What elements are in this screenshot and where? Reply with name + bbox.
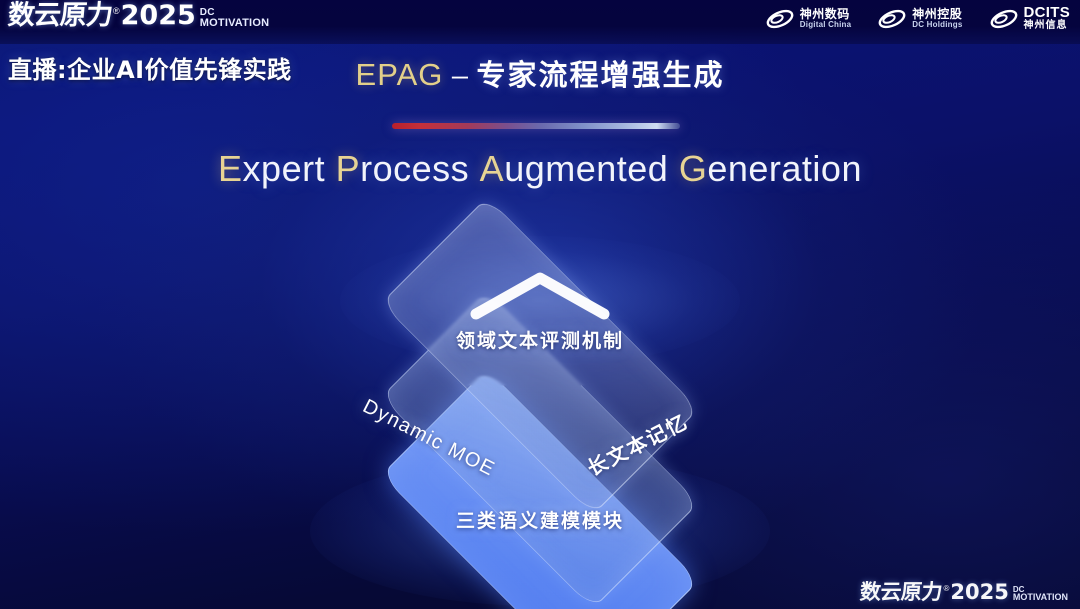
subtitle-cap-e: E	[218, 148, 243, 189]
gradient-divider	[392, 123, 680, 129]
swoosh-icon	[765, 6, 795, 32]
title-chinese: 专家流程增强生成	[476, 58, 724, 92]
partner-name-cn: 神州信息	[1024, 20, 1071, 32]
layer-label-top: 领域文本评测机制	[456, 326, 624, 353]
watermark-dc: DC MOTIVATION	[1013, 586, 1068, 602]
watermark-dc-line2: MOTIVATION	[1013, 593, 1068, 602]
watermark-year: 2025	[950, 582, 1008, 603]
chevron-up-icon	[466, 266, 614, 322]
partner-logo-digital-china: 神州数码 Digital China	[765, 6, 852, 32]
partner-text: 神州控股 DC Holdings	[912, 8, 962, 29]
partner-text: 神州数码 Digital China	[800, 8, 852, 29]
event-logo-cn: 数云原力	[7, 2, 113, 29]
layer-label-bottom: 三类语义建模模块	[456, 506, 624, 533]
partner-logo-dcits: DCITS 神州信息	[989, 5, 1071, 32]
watermark-cn: 数云原力	[860, 582, 944, 603]
watermark-registered-mark: ®	[943, 584, 949, 593]
title-dash: –	[448, 60, 472, 92]
title-acronym: EPAG	[356, 57, 444, 92]
partner-name-en: DCITS	[1024, 5, 1071, 20]
subtitle-rest-process: rocess	[360, 148, 469, 189]
subtitle-cap-p: P	[336, 148, 361, 189]
partner-logo-dc-holdings: 神州控股 DC Holdings	[877, 6, 962, 32]
event-logo: 数云原力 ® 2025 DC MOTIVATION	[8, 2, 269, 29]
subtitle-rest-expert: xpert	[243, 148, 326, 189]
partner-name-en: DC Holdings	[912, 21, 962, 29]
event-logo-dc: DC MOTIVATION	[200, 8, 269, 28]
registered-mark: ®	[113, 7, 120, 16]
partner-name-en: Digital China	[800, 21, 852, 29]
partner-name-cn: 神州控股	[912, 8, 962, 21]
event-logo-dc-line2: MOTIVATION	[200, 18, 269, 28]
event-logo-year: 2025	[121, 2, 196, 29]
subtitle-cap-a: A	[480, 148, 505, 189]
slide-title: EPAG – 专家流程增强生成	[0, 52, 1080, 94]
presentation-slide: 数云原力 ® 2025 DC MOTIVATION 直播:企业AI价值先锋实践 …	[0, 0, 1080, 609]
partner-name-cn: 神州数码	[800, 8, 852, 21]
slide-subtitle: Expert Process Augmented Generation	[0, 148, 1080, 190]
swoosh-icon	[989, 6, 1019, 32]
subtitle-rest-augmented: ugmented	[504, 148, 668, 189]
subtitle-cap-g: G	[679, 148, 708, 189]
partner-logo-group: 神州数码 Digital China 神州控股 DC Holdings DCIT…	[765, 5, 1070, 32]
layer-stack-diagram: 领域文本评测机制 Dynamic MOE 长文本记忆 三类语义建模模块	[280, 218, 800, 578]
watermark-logo: 数云原力 ® 2025 DC MOTIVATION	[860, 582, 1068, 603]
partner-text: DCITS 神州信息	[1024, 5, 1071, 32]
subtitle-rest-generation: eneration	[707, 148, 862, 189]
swoosh-icon	[877, 6, 907, 32]
